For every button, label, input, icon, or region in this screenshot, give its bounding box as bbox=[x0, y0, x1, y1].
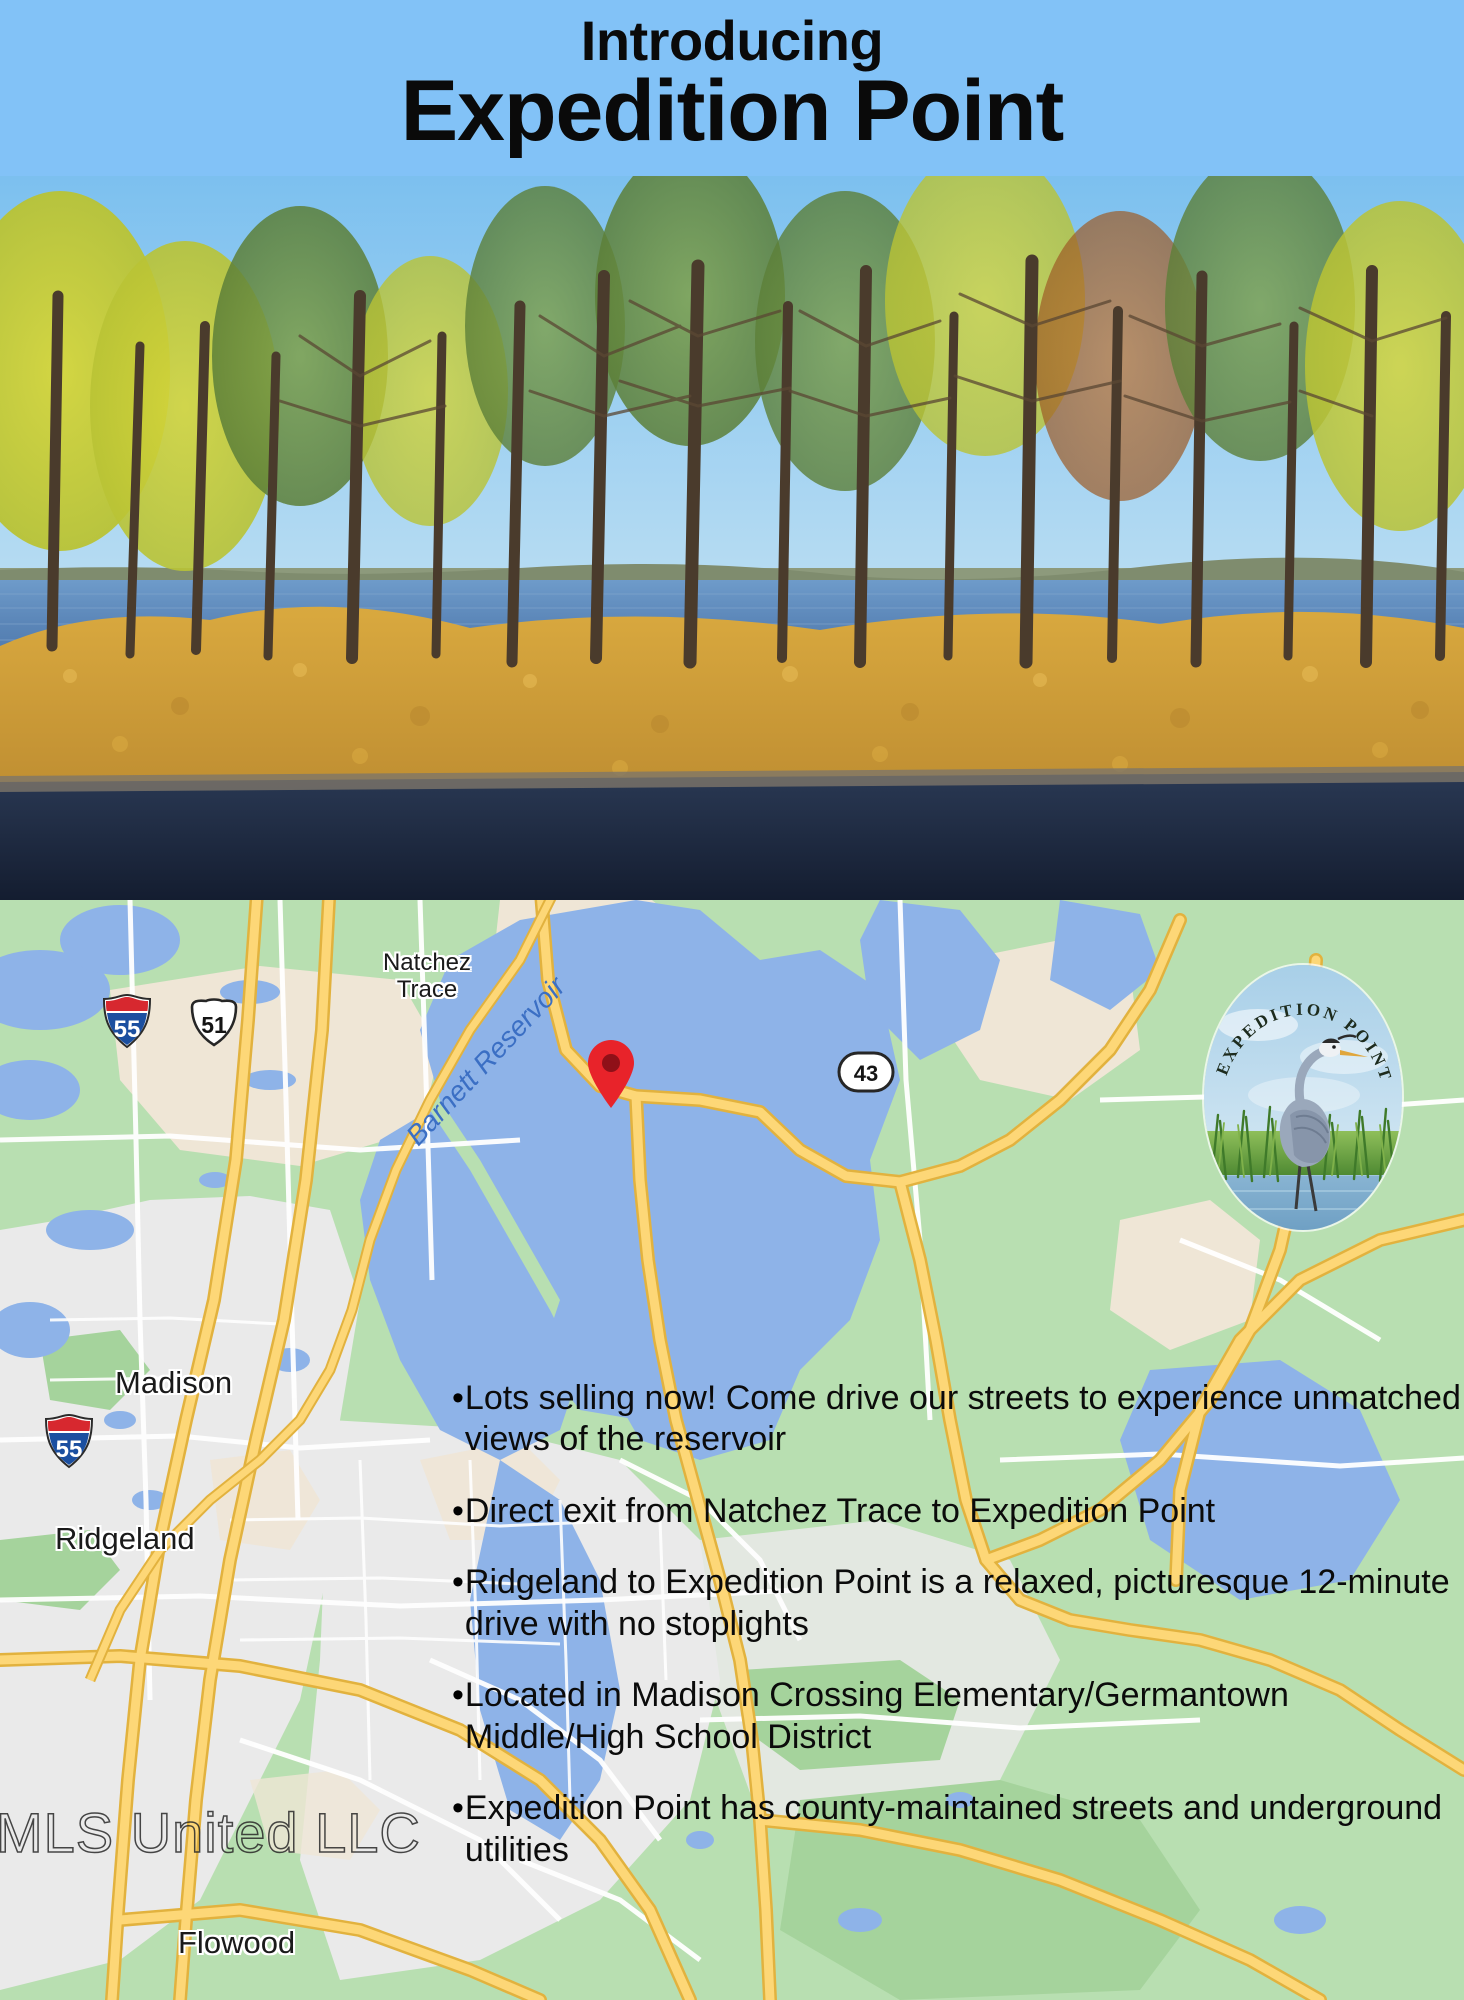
bullet-dot-icon: • bbox=[452, 1562, 464, 1603]
list-item: • Located in Madison Crossing Elementary… bbox=[452, 1675, 1464, 1758]
watermark-mls-united: MLS United LLC bbox=[0, 1800, 421, 1865]
bullet-text: Expedition Point has county-maintained s… bbox=[465, 1788, 1464, 1871]
bullet-text: Lots selling now! Come drive our streets… bbox=[465, 1378, 1464, 1461]
hero-photo bbox=[0, 176, 1464, 900]
bullet-dot-icon: • bbox=[452, 1491, 464, 1532]
brand-logo-expedition-point: EXPEDITION POINT bbox=[1204, 965, 1402, 1230]
feature-bullet-list: • Lots selling now! Come drive our stree… bbox=[452, 1378, 1464, 1901]
bullet-text: Ridgeland to Expedition Point is a relax… bbox=[465, 1562, 1464, 1645]
flyer-header: Introducing Expedition Point bbox=[0, 0, 1464, 176]
logo-illustration: EXPEDITION POINT bbox=[1204, 965, 1402, 1230]
list-item: • Lots selling now! Come drive our stree… bbox=[452, 1378, 1464, 1461]
intro-text: Introducing bbox=[581, 12, 883, 70]
bullet-text: Direct exit from Natchez Trace to Expedi… bbox=[465, 1491, 1215, 1532]
list-item: • Expedition Point has county-maintained… bbox=[452, 1788, 1464, 1871]
list-item: • Ridgeland to Expedition Point is a rel… bbox=[452, 1562, 1464, 1645]
listing-flyer: Introducing Expedition Point bbox=[0, 0, 1464, 2000]
bullet-dot-icon: • bbox=[452, 1378, 464, 1419]
bullet-dot-icon: • bbox=[452, 1675, 464, 1716]
bullet-text: Located in Madison Crossing Elementary/G… bbox=[465, 1675, 1464, 1758]
bullet-dot-icon: • bbox=[452, 1788, 464, 1829]
page-title: Expedition Point bbox=[401, 66, 1063, 156]
list-item: • Direct exit from Natchez Trace to Expe… bbox=[452, 1491, 1464, 1532]
map-pin-expedition-point[interactable] bbox=[584, 1038, 638, 1110]
hero-photo-illustration bbox=[0, 176, 1464, 900]
